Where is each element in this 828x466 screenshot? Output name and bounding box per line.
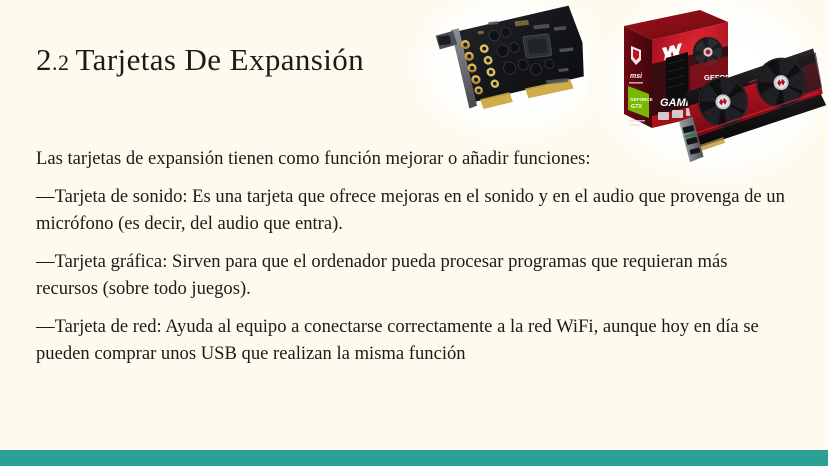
svg-text:GTX: GTX xyxy=(631,104,642,110)
svg-text:GEFORCE: GEFORCE xyxy=(630,97,653,102)
paragraph-graphics-card: —Tarjeta gráfica: Sirven para que el ord… xyxy=(36,248,756,302)
title-number-main: 2 xyxy=(36,42,52,77)
bottom-accent-bar xyxy=(0,450,828,466)
pci-sound-card-photo xyxy=(420,0,600,130)
paragraph-lead: Las tarjetas de expansión tienen como fu… xyxy=(36,145,706,172)
paragraph-sound-card: —Tarjeta de sonido: Es una tarjeta que o… xyxy=(36,183,798,237)
title-number-sub: .2 xyxy=(52,50,70,75)
sound-card-illustration xyxy=(426,0,594,117)
title-number: 2.2 xyxy=(36,42,70,77)
title-text: Tarjetas De Expansión xyxy=(76,42,365,77)
paragraph-network-card: —Tarjeta de red: Ayuda al equipo a conec… xyxy=(36,313,796,367)
page-title: 2.2Tarjetas De Expansión xyxy=(36,42,456,92)
svg-text:msi: msi xyxy=(630,73,643,80)
slide-canvas: 2.2Tarjetas De Expansión Las tarjetas de… xyxy=(0,0,828,466)
